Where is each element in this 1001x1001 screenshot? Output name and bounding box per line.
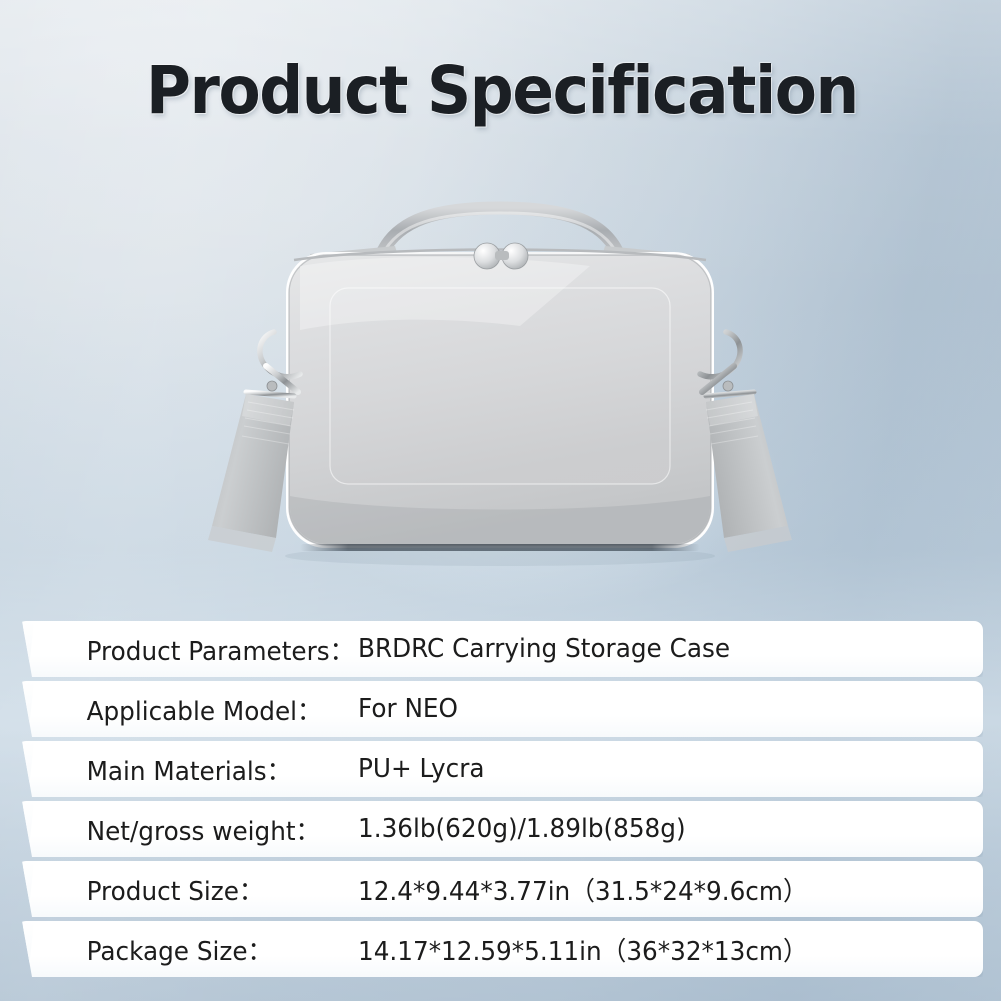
table-row: Net/gross weight： 1.36lb(620g)/1.89lb(85… — [22, 801, 983, 857]
spec-value: BRDRC Carrying Storage Case — [358, 634, 730, 664]
spec-label: Product Parameters： — [22, 631, 341, 668]
case-shadow — [285, 544, 715, 566]
table-row: Product Parameters： BRDRC Carrying Stora… — [22, 621, 983, 677]
spec-value: For NEO — [358, 694, 458, 724]
product-image — [190, 196, 810, 576]
page-title: Product Specification — [146, 52, 858, 130]
table-row: Applicable Model： For NEO — [22, 681, 983, 737]
spec-value: 14.17*12.59*5.11in（36*32*13cm） — [358, 931, 808, 968]
spec-label: Product Size： — [22, 871, 341, 908]
spec-value: 1.36lb(620g)/1.89lb(858g) — [358, 814, 686, 844]
case-body — [286, 252, 714, 548]
spec-label: Applicable Model： — [22, 691, 341, 728]
spec-label: Main Materials： — [22, 751, 341, 788]
specification-table: Product Parameters： BRDRC Carrying Stora… — [0, 621, 1001, 981]
spec-label: Net/gross weight： — [22, 811, 341, 848]
shoulder-strap-right — [706, 394, 792, 552]
shoulder-strap-left — [208, 394, 294, 552]
product-specification-page: Product Specification — [0, 0, 1001, 1001]
spec-value: PU+ Lycra — [358, 754, 485, 784]
table-row: Package Size： 14.17*12.59*5.11in（36*32*1… — [22, 921, 983, 977]
table-row: Main Materials： PU+ Lycra — [22, 741, 983, 797]
table-row: Product Size： 12.4*9.44*3.77in（31.5*24*9… — [22, 861, 983, 917]
spec-value: 12.4*9.44*3.77in（31.5*24*9.6cm） — [358, 871, 808, 908]
spec-label: Package Size： — [22, 931, 341, 968]
